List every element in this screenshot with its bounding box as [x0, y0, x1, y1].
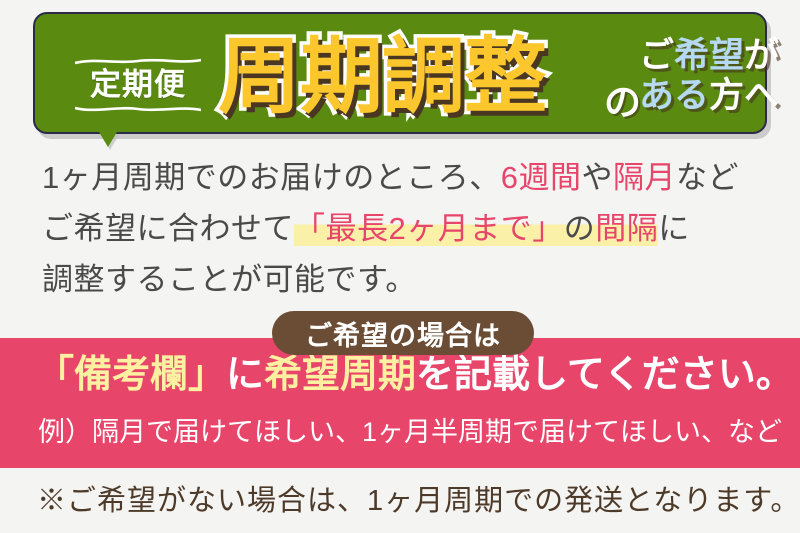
instruction-pink-band: 「備考欄」に希望周期を記載してください。 例）隔月で届けてほしい、1ヶ月半周期で… [0, 338, 800, 468]
band-example-text: 例）隔月で届けてほしい、1ヶ月半周期で届けてほしい、など [38, 410, 782, 449]
subscription-badge-label: 定期便 [90, 65, 186, 105]
speech-bubble-tail-icon [99, 132, 117, 147]
body-l2-seg1: ご希望に合わせて [42, 211, 294, 246]
subtext-kata-e: 方へ [709, 76, 779, 115]
body-l1-six-weeks: 6週間 [501, 160, 582, 195]
promotional-banner: 定期便 周期調整 の ご希望が ある方へ 1ヶ月周期でのお届けのところ、6週間や… [0, 0, 800, 533]
body-l2-seg3: の [564, 211, 596, 246]
headline-main-text: 周期調整 [218, 28, 546, 126]
band-seg4: を記載してください。 [416, 354, 794, 396]
subtext-aru: ある [639, 76, 709, 115]
band-desired-cycle: 希望周期 [264, 354, 416, 396]
subtext-go: ご [639, 36, 674, 75]
header-speech-bubble: 定期便 周期調整 の ご希望が ある方へ [33, 12, 767, 134]
body-line-1: 1ヶ月周期でのお届けのところ、6週間や隔月など [42, 152, 768, 203]
headline-particle: の [604, 72, 641, 126]
body-l1-seg1: 1ヶ月周期でのお届けのところ、 [42, 160, 501, 195]
subtext-ga: が [744, 36, 779, 75]
body-l2-seg5: に [658, 211, 690, 246]
pill-badge-label: ご希望の場合は [305, 314, 501, 353]
body-l2-interval: 間隔 [595, 211, 658, 246]
request-case-pill-badge: ご希望の場合は [272, 311, 534, 355]
wavy-rule-bottom-icon [75, 105, 201, 112]
body-l2-max-two-months: 「最長2ヶ月まで」 [294, 211, 564, 246]
footer-note: ※ご希望がない場合は、1ヶ月周期での発送となります。 [37, 477, 800, 519]
subtext-kibou: 希望 [674, 36, 744, 75]
headline-subtext-line1: ご希望が [639, 36, 799, 76]
body-paragraph: 1ヶ月周期でのお届けのところ、6週間や隔月など ご希望に合わせて「最長2ヶ月まで… [42, 152, 768, 305]
wavy-rule-top-icon [75, 58, 201, 65]
body-l1-seg3: や [582, 160, 614, 195]
headline-subtext: ご希望が ある方へ [639, 36, 799, 116]
band-main-text: 「備考欄」に希望周期を記載してください。 [36, 355, 794, 397]
headline-subtext-line2: ある方へ [639, 76, 799, 116]
body-l1-every-other-month: 隔月 [613, 160, 676, 195]
body-line-3: 調整することが可能です。 [42, 254, 768, 305]
subscription-badge: 定期便 [69, 45, 207, 125]
body-l1-seg5: など [676, 160, 739, 195]
band-seg2: に [226, 354, 264, 396]
band-remarks-field: 「備考欄」 [36, 354, 226, 396]
body-line-2: ご希望に合わせて「最長2ヶ月まで」の間隔に [42, 203, 768, 254]
